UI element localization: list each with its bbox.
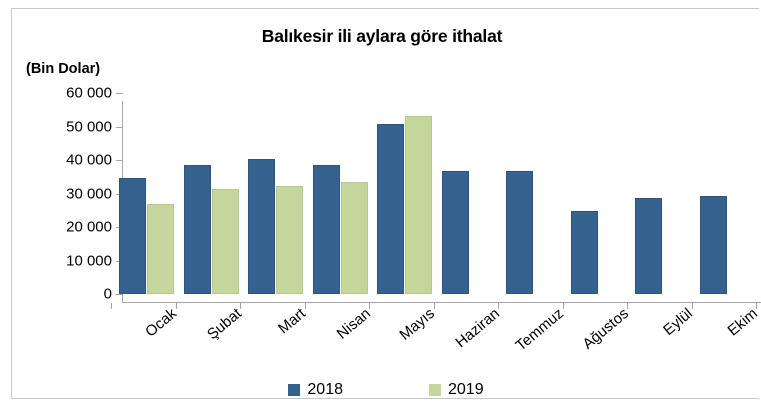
bar-2019-şubat <box>212 189 239 294</box>
x-axis-tick-mark <box>111 303 112 309</box>
x-axis-tick-mark <box>240 303 241 309</box>
y-axis-labels: 60 00050 00040 00030 00020 00010 0000 <box>12 9 112 416</box>
chart-title: Balıkesir ili aylara göre ithalat <box>12 26 752 47</box>
bar-2018-nisan <box>313 165 340 294</box>
bar-2018-temmuz <box>506 171 533 294</box>
y-axis-tick-label: 60 000 <box>20 85 112 102</box>
y-axis-tick-label: 40 000 <box>20 152 112 169</box>
legend-label: 2018 <box>307 381 343 399</box>
x-axis-tick-mark <box>692 303 693 309</box>
legend-item-2019[interactable]: 2019 <box>429 381 484 399</box>
x-axis-tick-mark <box>563 303 564 309</box>
y-axis-tick-label: 20 000 <box>20 219 112 236</box>
bar-2018-haziran <box>442 171 469 294</box>
legend-swatch-icon <box>429 384 441 396</box>
bar-2019-mart <box>276 186 303 294</box>
legend-swatch-icon <box>288 384 300 396</box>
x-axis-tick-mark <box>498 303 499 309</box>
y-axis-tick-label: 30 000 <box>20 185 112 202</box>
bar-2018-ekim <box>700 196 727 294</box>
legend-item-2018[interactable]: 2018 <box>288 381 343 399</box>
bar-2018-mart <box>248 159 275 294</box>
bar-2018-eylül <box>635 198 662 294</box>
x-axis-tick-mark <box>756 303 757 309</box>
bar-2018-ağustos <box>571 211 598 294</box>
bar-2019-ocak <box>147 204 174 294</box>
y-axis-tick-label: 50 000 <box>20 118 112 135</box>
y-axis-tick-mark <box>116 93 123 94</box>
bar-2019-nisan <box>341 182 368 294</box>
x-axis-tick-mark <box>434 303 435 309</box>
y-axis-tick-label: 10 000 <box>20 252 112 269</box>
legend-label: 2019 <box>448 381 484 399</box>
bar-2018-mayıs <box>377 124 404 294</box>
x-axis-tick-mark <box>176 303 177 309</box>
y-axis-tick-label: 0 <box>20 286 112 303</box>
bar-2018-ocak <box>119 178 146 294</box>
x-axis-tick-mark <box>627 303 628 309</box>
y-axis-tick-mark <box>116 160 123 161</box>
x-axis-tick-mark <box>305 303 306 309</box>
chart-container: Balıkesir ili aylara göre ithalat (Bin D… <box>11 8 759 399</box>
bar-2018-şubat <box>184 165 211 294</box>
y-axis-tick-mark <box>116 294 123 295</box>
bar-2019-mayıs <box>405 116 432 294</box>
x-axis-line <box>122 302 761 303</box>
x-axis-tick-mark <box>369 303 370 309</box>
y-axis-tick-mark <box>116 127 123 128</box>
chart-legend: 20182019 <box>12 381 760 399</box>
